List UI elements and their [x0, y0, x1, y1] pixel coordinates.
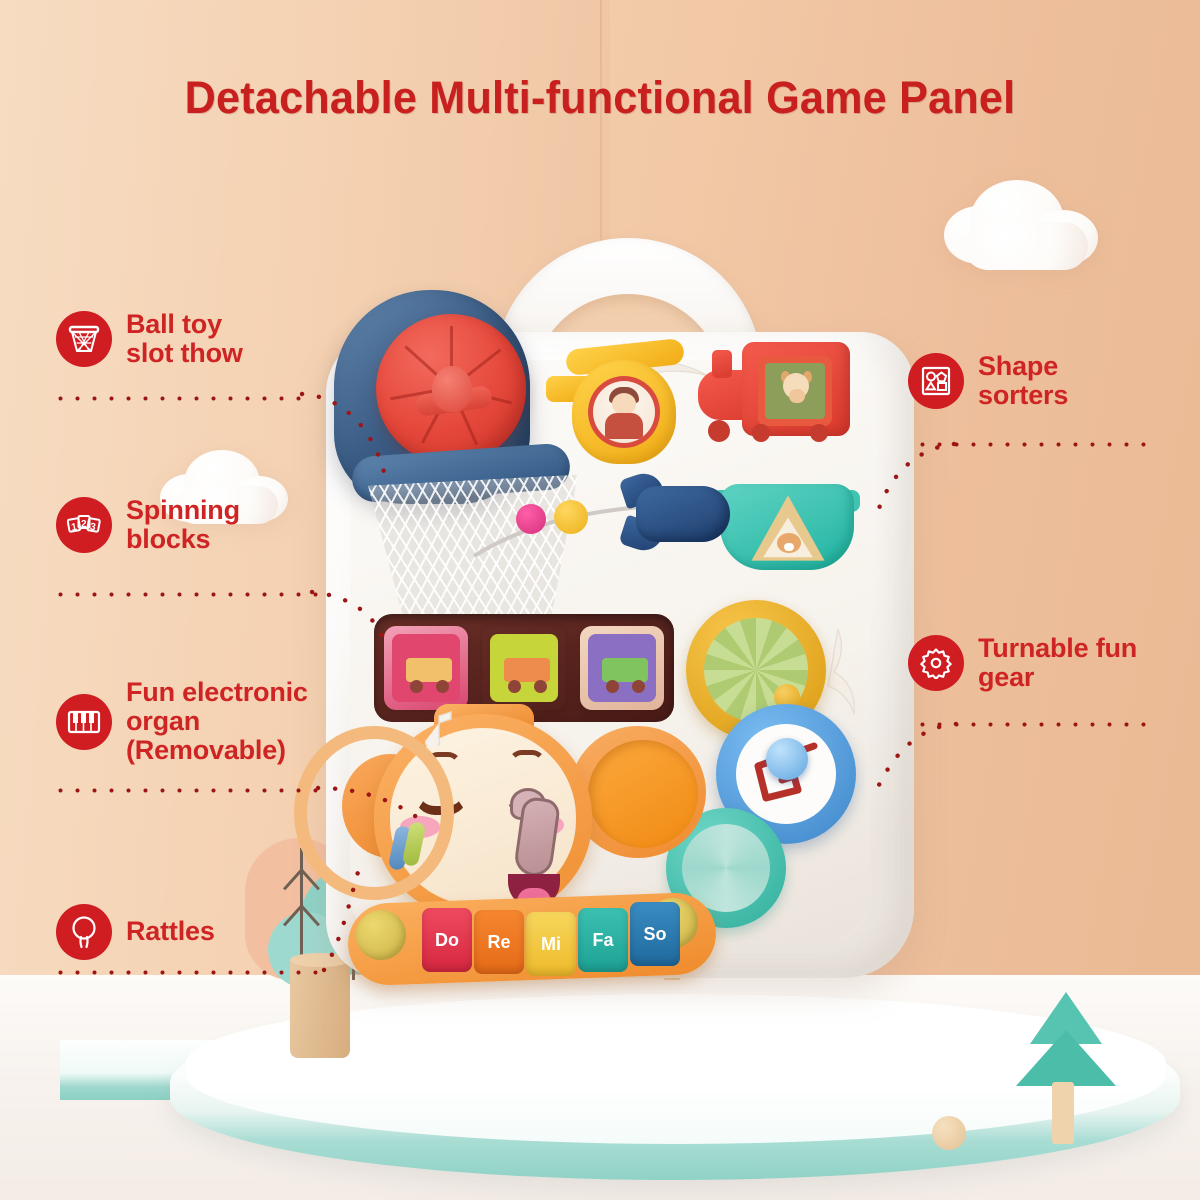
- piano-keys-icon: [56, 694, 112, 750]
- callout-spinning-blocks[interactable]: 1 2 3 Spinning blocks: [56, 496, 240, 554]
- callout-shape-sorters[interactable]: Shape sorters: [908, 352, 1068, 410]
- callout-rattles[interactable]: Rattles: [56, 904, 215, 960]
- callout-ball-toy-slot-thow[interactable]: Ball toy slot thow: [56, 310, 243, 368]
- piano-key-so[interactable]: So: [630, 902, 680, 966]
- callout-underline: [52, 592, 320, 597]
- callout-connector: [858, 700, 968, 810]
- callout-label: Fun electronic organ (Removable): [126, 678, 308, 765]
- piano-key-fa[interactable]: Fa: [578, 908, 628, 972]
- callout-connector: [310, 838, 420, 978]
- callout-connector: [848, 426, 958, 526]
- callout-connector: [300, 376, 420, 486]
- train-shape-sorter[interactable]: [698, 336, 854, 456]
- callout-label: Spinning blocks: [126, 496, 240, 554]
- piano-key-do[interactable]: Do: [422, 908, 472, 972]
- bead-pink[interactable]: [516, 504, 546, 534]
- basketball-hoop-icon: [56, 311, 112, 367]
- svg-text:2: 2: [81, 519, 87, 530]
- wooden-ball: [932, 1116, 966, 1150]
- teal-cone-tree-trunk: [1052, 1082, 1074, 1144]
- callout-underline: [52, 396, 310, 401]
- cloud-icon: [944, 176, 1104, 272]
- callout-underline: [52, 970, 324, 975]
- gear-icon: [908, 635, 964, 691]
- callout-label: Rattles: [126, 917, 215, 946]
- rattle-icon: [56, 904, 112, 960]
- callout-fun-electronic-organ[interactable]: Fun electronic organ (Removable): [56, 678, 308, 765]
- callout-label: Shape sorters: [978, 352, 1068, 410]
- piano-key-re[interactable]: Re: [474, 910, 524, 974]
- infographic-canvas: Detachable Multi-functional Game Panel: [0, 0, 1200, 1200]
- callout-turnable-fun-gear[interactable]: Turnable fun gear: [908, 634, 1137, 692]
- music-note-emboss-icon: [414, 706, 456, 751]
- svg-text:1: 1: [71, 522, 79, 534]
- callout-label: Ball toy slot thow: [126, 310, 243, 368]
- spinning-block[interactable]: [482, 626, 566, 710]
- callout-label: Turnable fun gear: [978, 634, 1137, 692]
- spinning-block[interactable]: [580, 626, 664, 710]
- callout-connector: [310, 576, 420, 656]
- page-title: Detachable Multi-functional Game Panel: [24, 72, 1176, 124]
- elephant-drum-pad[interactable]: [588, 740, 698, 848]
- bead-yellow[interactable]: [554, 500, 588, 534]
- number-blocks-icon: 1 2 3: [56, 497, 112, 553]
- helicopter-shape-sorter[interactable]: [546, 342, 692, 468]
- piano-key-mi[interactable]: Mi: [526, 912, 576, 976]
- shapes-square-icon: [908, 353, 964, 409]
- callout-underline: [52, 788, 324, 793]
- rocket-bead[interactable]: [614, 470, 732, 556]
- teal-cone-tree-base: [1016, 1030, 1116, 1086]
- callout-connector: [316, 766, 446, 836]
